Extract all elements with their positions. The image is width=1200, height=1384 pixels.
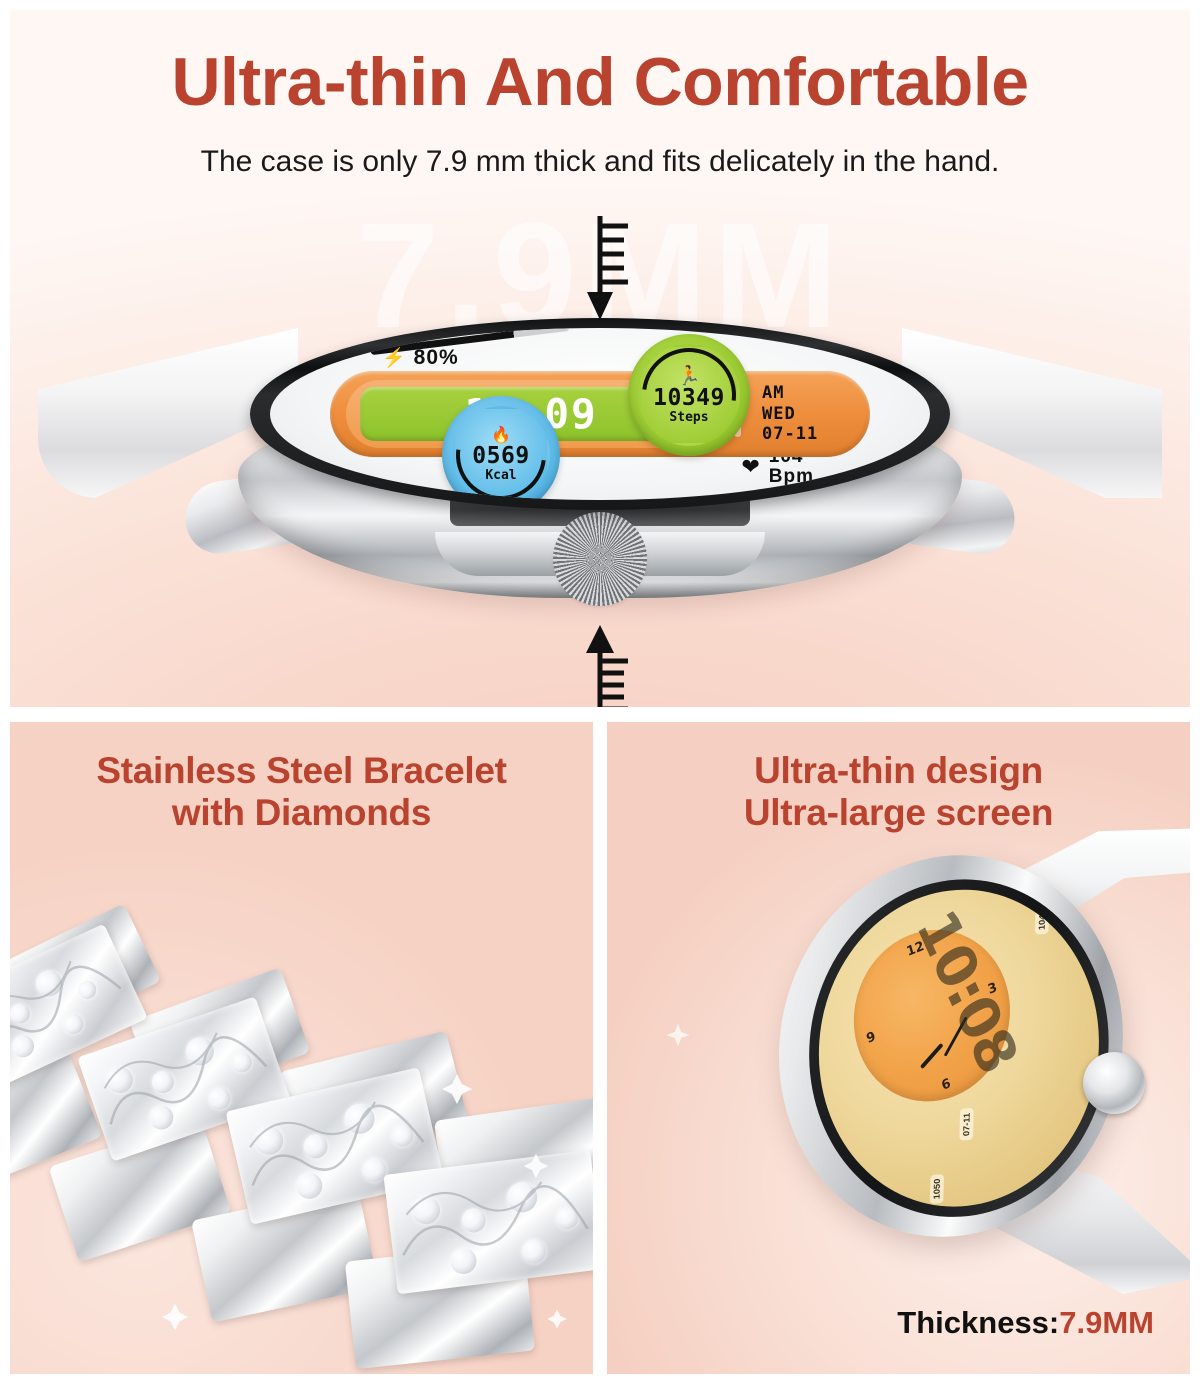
watch-case: ⚡ 80% ❤ 104 Bpm xyxy=(238,318,962,608)
gold-smartwatch-image: 12 3 6 9 10:08 07-11 1050 0569 xyxy=(757,842,1187,1262)
hour-number: 9 xyxy=(865,1029,878,1047)
gem-link xyxy=(383,1150,593,1294)
smartwatch-side-view: ⚡ 80% ❤ 104 Bpm xyxy=(10,310,1190,650)
watch-screen[interactable]: ⚡ 80% ❤ 104 Bpm xyxy=(270,328,930,500)
thickness-value: 7.9MM xyxy=(1059,1305,1154,1340)
time-widget-panel: 10:09 AM WED 07-11 xyxy=(330,371,870,457)
heart-icon: ❤ xyxy=(741,456,759,478)
steps-widget[interactable]: 🏃 10349 Steps xyxy=(628,334,750,456)
heart-rate-chip: 104 xyxy=(1035,910,1049,935)
hour-hand xyxy=(920,1043,944,1069)
calories-unit: Kcal xyxy=(472,469,529,482)
calories-chip: 0569 xyxy=(892,1210,906,1240)
feature-panels: Stainless Steel Bracelet with Diamonds xyxy=(10,722,1190,1374)
flame-icon: 🔥 xyxy=(491,428,511,444)
steps-value: 10349 xyxy=(653,387,725,410)
battery-percent-label: 80% xyxy=(414,346,459,370)
watch-crown-button[interactable] xyxy=(557,516,643,602)
weekday-label: WED xyxy=(762,404,818,425)
hero-panel: 7.9MM Ultra-thin And Comfortable The cas… xyxy=(10,10,1190,707)
thickness-label: Thickness: xyxy=(897,1305,1059,1340)
page-subtitle: The case is only 7.9 mm thick and fits d… xyxy=(10,145,1190,180)
hour-number: 6 xyxy=(940,1076,953,1094)
heart-rate-unit: Bpm xyxy=(769,466,814,487)
steps-unit: Steps xyxy=(653,411,725,424)
panel-ultra-thin-title: Ultra-thin design Ultra-large screen xyxy=(607,750,1190,834)
page-title: Ultra-thin And Comfortable xyxy=(10,48,1190,116)
date-chip: 07-11 xyxy=(960,1108,974,1140)
lightning-bolt-icon: ⚡ xyxy=(382,346,407,370)
diamond-bracelet-image xyxy=(10,872,593,1374)
gold-watch-crown-button[interactable] xyxy=(1083,1052,1145,1114)
date-widget: AM WED 07-11 xyxy=(762,383,818,445)
panel-bracelet: Stainless Steel Bracelet with Diamonds xyxy=(10,722,593,1374)
meridiem-label: AM xyxy=(762,383,818,404)
panel-ultra-thin: Ultra-thin design Ultra-large screen 12 … xyxy=(607,722,1190,1374)
panel-bracelet-title: Stainless Steel Bracelet with Diamonds xyxy=(10,750,593,834)
product-feature-page: 7.9MM Ultra-thin And Comfortable The cas… xyxy=(0,0,1200,1384)
watch-bezel: ⚡ 80% ❤ 104 Bpm xyxy=(250,318,950,510)
steps-chip: 1050 xyxy=(929,1174,943,1204)
calories-value: 0569 xyxy=(472,445,529,468)
thickness-caption: Thickness:7.9MM xyxy=(897,1307,1154,1338)
date-label: 07-11 xyxy=(762,424,818,445)
battery-status: ⚡ 80% xyxy=(382,346,459,370)
running-person-icon: 🏃 xyxy=(677,367,701,386)
light-sparkle-icon xyxy=(665,1022,691,1048)
